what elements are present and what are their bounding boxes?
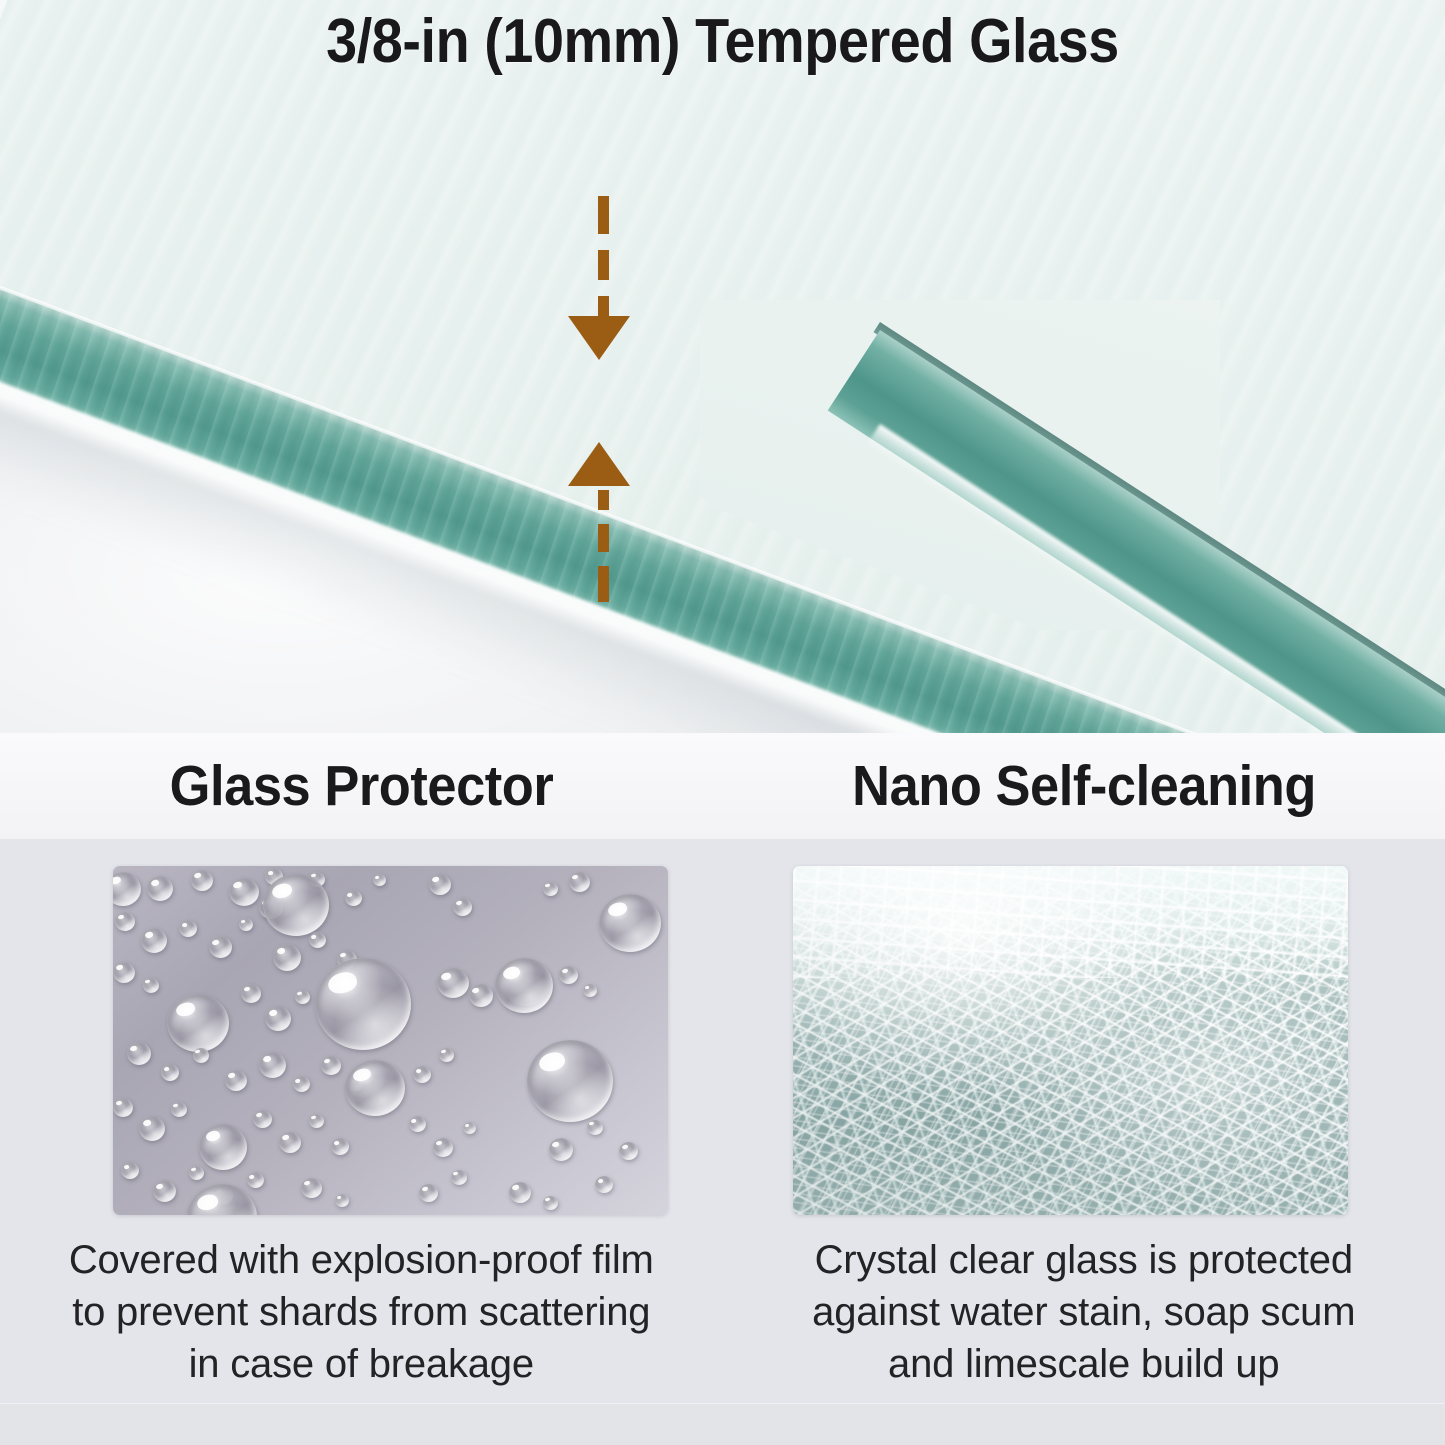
droplet: [199, 1124, 247, 1170]
droplet: [143, 978, 159, 993]
droplet: [193, 1048, 209, 1063]
droplet-large: [345, 1060, 405, 1116]
measure-dash: [598, 296, 609, 316]
page-title: 3/8-in (10mm) Tempered Glass: [72, 6, 1373, 77]
droplet: [147, 876, 173, 901]
water-droplets-photo: [113, 866, 668, 1215]
droplet: [309, 932, 326, 948]
droplet: [559, 966, 578, 984]
arrow-up-icon: [568, 442, 630, 486]
droplet: [273, 944, 301, 971]
arrow-down-icon: [568, 316, 630, 360]
droplet: [191, 870, 213, 891]
droplet: [139, 1116, 165, 1141]
droplet: [549, 1138, 573, 1161]
droplet-large: [263, 874, 329, 936]
droplet: [345, 890, 362, 906]
measure-dash: [598, 524, 609, 552]
measure-dash: [598, 196, 609, 234]
droplet: [509, 1182, 531, 1203]
droplet: [321, 1056, 341, 1075]
caption-line: Crystal clear glass is protected: [759, 1234, 1410, 1286]
droplet-large: [495, 958, 553, 1013]
droplet: [259, 1052, 286, 1078]
droplet: [569, 872, 590, 892]
droplet-xlarge: [527, 1040, 613, 1122]
caption-line: Covered with explosion-proof film: [36, 1234, 687, 1286]
droplet-xlarge: [315, 958, 411, 1050]
droplet: [209, 936, 232, 958]
droplet: [413, 1066, 431, 1083]
droplet: [121, 1162, 139, 1179]
thickness-measurement-annotation: [572, 196, 628, 572]
droplet: [127, 1042, 151, 1065]
droplet: [583, 984, 597, 997]
droplet: [595, 1176, 613, 1193]
droplet: [543, 882, 558, 896]
droplet: [439, 1048, 454, 1062]
droplet: [301, 1178, 322, 1198]
feature-column-nano-self-cleaning: Crystal clear glass is protected against…: [723, 839, 1445, 1403]
measure-dash: [598, 250, 609, 280]
feature-headings-band: Glass Protector Nano Self-cleaning: [0, 733, 1445, 839]
caption-line: and limescale build up: [759, 1338, 1410, 1390]
infographic-page: 3/8-in (10mm) Tempered Glass Glass Prote…: [0, 0, 1445, 1445]
droplet: [463, 1122, 476, 1134]
droplet: [253, 1110, 272, 1128]
droplet: [587, 1120, 603, 1135]
droplet: [419, 1184, 438, 1202]
feature-caption-nano-self-cleaning: Crystal clear glass is protected against…: [723, 1234, 1445, 1390]
feature-panels: Covered with explosion-proof film to pre…: [0, 839, 1445, 1403]
glass-slab-illustration: [0, 0, 1445, 733]
droplet: [113, 962, 135, 983]
droplet: [469, 984, 493, 1007]
heading-cell-right: Nano Self-cleaning: [723, 733, 1445, 839]
feature-caption-glass-protector: Covered with explosion-proof film to pre…: [0, 1234, 723, 1390]
droplet: [239, 918, 253, 931]
droplet: [113, 1098, 133, 1117]
shatter-light-sheen: [793, 866, 1348, 1215]
droplet: [115, 912, 135, 931]
droplet: [179, 920, 197, 937]
caption-line: to prevent shards from scattering: [36, 1286, 687, 1338]
shattered-tempered-glass-photo: [793, 866, 1348, 1215]
droplet: [153, 1180, 176, 1202]
droplet: [247, 1172, 264, 1188]
droplet: [293, 1076, 310, 1092]
caption-line: in case of breakage: [36, 1338, 687, 1390]
heading-cell-left: Glass Protector: [0, 733, 723, 839]
droplet: [279, 1132, 301, 1153]
droplet: [265, 1006, 291, 1031]
droplet: [331, 1138, 349, 1155]
droplet: [429, 874, 451, 895]
bottom-strip: [0, 1403, 1445, 1445]
droplet: [241, 984, 261, 1003]
droplet-large: [167, 994, 229, 1052]
droplet: [225, 1070, 247, 1091]
droplet: [437, 968, 469, 998]
feature-column-glass-protector: Covered with explosion-proof film to pre…: [0, 839, 723, 1403]
droplet: [373, 874, 386, 886]
droplet: [433, 1138, 453, 1157]
droplet: [161, 1064, 179, 1081]
droplet: [543, 1196, 558, 1210]
droplet: [451, 1170, 467, 1185]
measure-dash: [598, 490, 609, 510]
droplet-large: [599, 894, 661, 952]
droplet: [189, 1166, 204, 1180]
caption-line: against water stain, soap scum: [759, 1286, 1410, 1338]
measure-dash: [598, 566, 609, 602]
droplet: [229, 878, 259, 906]
feature-heading-nano-self-cleaning: Nano Self-cleaning: [852, 753, 1316, 819]
hero-glass-photo: 3/8-in (10mm) Tempered Glass: [0, 0, 1445, 733]
droplet: [453, 898, 472, 916]
droplet: [171, 1102, 187, 1117]
droplet: [335, 1194, 349, 1207]
droplet: [295, 990, 310, 1004]
droplet: [619, 1142, 638, 1160]
feature-heading-glass-protector: Glass Protector: [169, 753, 553, 819]
droplet: [309, 1114, 324, 1128]
droplet: [141, 928, 167, 953]
droplet: [409, 1116, 426, 1132]
